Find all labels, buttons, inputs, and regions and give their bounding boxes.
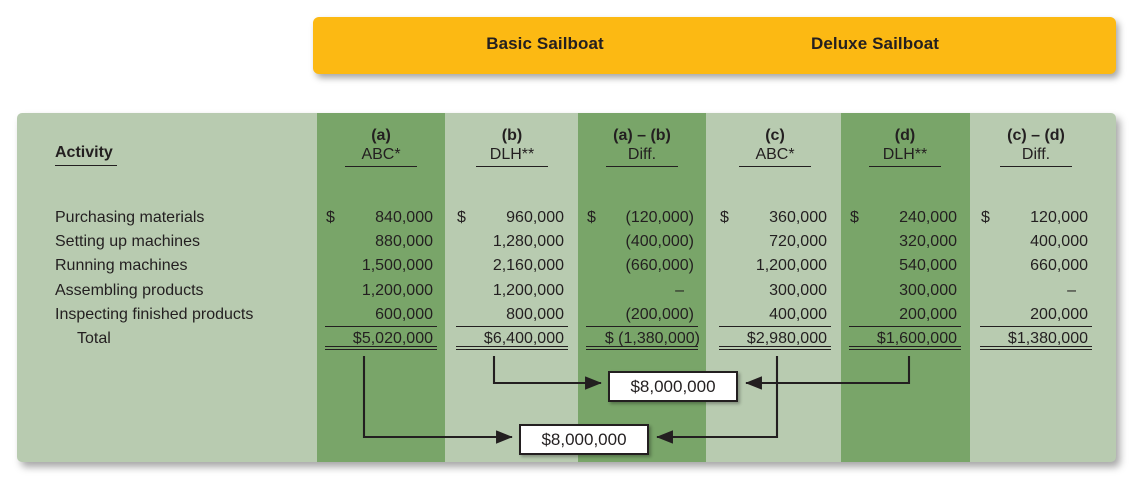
arrow-a-total-to-bottom-callout	[364, 356, 512, 437]
total-overhead-callout-abc: $8,000,000	[519, 424, 649, 455]
arrow-d-total-to-top-callout	[746, 356, 909, 383]
connector-arrows	[0, 0, 1130, 493]
total-overhead-callout-dlh: $8,000,000	[608, 371, 738, 402]
arrow-b-total-to-top-callout	[494, 356, 601, 383]
